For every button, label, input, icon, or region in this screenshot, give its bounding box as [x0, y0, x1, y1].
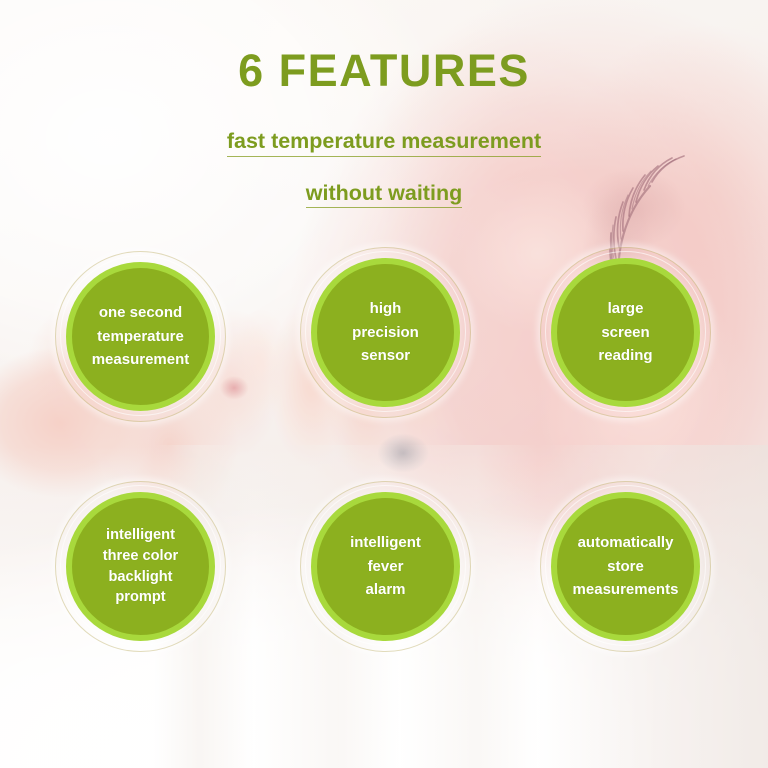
circle-disc: automaticallystoremeasurements: [551, 492, 700, 641]
subtitle-line1-row: fast temperature measurement: [0, 131, 768, 157]
feature-circle-4[interactable]: intelligentthree colorbacklightprompt: [66, 492, 215, 641]
circle-disc: intelligentthree colorbacklightprompt: [66, 492, 215, 641]
feature-label-5: intelligentfeveralarm: [283, 531, 489, 602]
feature-label-6: automaticallystoremeasurements: [523, 531, 729, 602]
feature-label-1: one secondtemperaturemeasurement: [38, 301, 244, 372]
subtitle-line1: fast temperature measurement: [227, 131, 541, 157]
page-title: 6 FEATURES: [0, 48, 768, 93]
feature-circle-5[interactable]: intelligentfeveralarm: [311, 492, 460, 641]
feature-label-3: largescreenreading: [523, 297, 729, 368]
circle-disc: highprecisionsensor: [311, 258, 460, 407]
subtitle-line2-row: without waiting: [0, 183, 768, 209]
feature-label-2: highprecisionsensor: [283, 297, 489, 368]
header-block: 6 FEATURES fast temperature measurement …: [0, 48, 768, 208]
feature-label-4: intelligentthree colorbacklightprompt: [38, 525, 244, 608]
infographic-canvas: 6 FEATURES fast temperature measurement …: [0, 0, 768, 768]
circle-disc: one secondtemperaturemeasurement: [66, 262, 215, 411]
feature-circle-6[interactable]: automaticallystoremeasurements: [551, 492, 700, 641]
circle-disc: intelligentfeveralarm: [311, 492, 460, 641]
feature-circle-3[interactable]: largescreenreading: [551, 258, 700, 407]
subtitle-line2: without waiting: [306, 183, 462, 209]
feature-circle-1[interactable]: one secondtemperaturemeasurement: [66, 262, 215, 411]
circle-disc: largescreenreading: [551, 258, 700, 407]
feature-circle-2[interactable]: highprecisionsensor: [311, 258, 460, 407]
